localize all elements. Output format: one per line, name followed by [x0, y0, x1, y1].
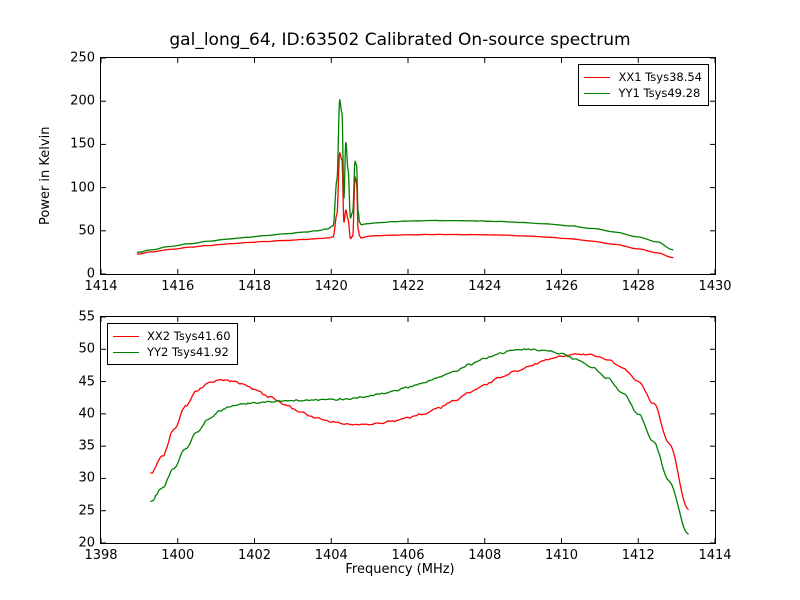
legend-swatch-xx1: [584, 77, 610, 78]
y-tick-label: 250: [59, 51, 95, 66]
x-tick-label: 1410: [545, 548, 578, 563]
x-tick-label: 1418: [238, 279, 271, 294]
legend-swatch-xx2: [113, 336, 139, 337]
y-tick-label: 45: [59, 374, 95, 389]
x-tick-label: 1416: [161, 279, 194, 294]
x-tick-label: 1408: [468, 548, 501, 563]
y-tick-label: 20: [59, 536, 95, 551]
page-title: gal_long_64, ID:63502 Calibrated On-sour…: [0, 30, 800, 50]
y-tick-label: 0: [59, 267, 95, 282]
top-legend: XX1 Tsys38.54 YY1 Tsys49.28: [578, 64, 709, 106]
y-tick-label: 30: [59, 471, 95, 486]
x-tick-label: 1412: [622, 548, 655, 563]
series-line: [151, 354, 688, 510]
y-tick-label: 100: [59, 180, 95, 195]
y-tick-label: 40: [59, 406, 95, 421]
x-tick-label: 1406: [391, 548, 424, 563]
x-tick-label: 1400: [161, 548, 194, 563]
legend-label-xx2: XX2 Tsys41.60: [147, 328, 231, 344]
y-tick-label: 150: [59, 137, 95, 152]
legend-item: YY2 Tsys41.92: [113, 344, 231, 360]
bottom-axes: XX2 Tsys41.60 YY2 Tsys41.92: [100, 316, 716, 544]
legend-label-xx1: XX1 Tsys38.54: [618, 69, 702, 85]
bottom-axis-xlabel: Frequency (MHz): [0, 562, 800, 577]
y-tick-label: 55: [59, 310, 95, 325]
x-tick-label: 1404: [315, 548, 348, 563]
x-tick-label: 1428: [622, 279, 655, 294]
series-line: [137, 100, 672, 252]
y-tick-label: 50: [59, 342, 95, 357]
legend-label-yy1: YY1 Tsys49.28: [618, 85, 700, 101]
y-tick-label: 25: [59, 503, 95, 518]
legend-item: XX2 Tsys41.60: [113, 328, 231, 344]
legend-item: XX1 Tsys38.54: [584, 69, 702, 85]
figure-canvas: gal_long_64, ID:63502 Calibrated On-sour…: [0, 0, 800, 600]
top-axis-ylabel: Power in Kelvin: [38, 127, 53, 225]
x-tick-label: 1414: [698, 548, 731, 563]
x-tick-label: 1426: [545, 279, 578, 294]
y-tick-label: 200: [59, 94, 95, 109]
x-tick-label: 1430: [698, 279, 731, 294]
y-tick-label: 50: [59, 223, 95, 238]
legend-swatch-yy2: [113, 352, 139, 353]
x-tick-label: 1422: [391, 279, 424, 294]
x-tick-label: 1402: [238, 548, 271, 563]
x-tick-label: 1424: [468, 279, 501, 294]
y-tick-label: 35: [59, 439, 95, 454]
top-axes: XX1 Tsys38.54 YY1 Tsys49.28: [100, 57, 716, 275]
bottom-legend: XX2 Tsys41.60 YY2 Tsys41.92: [107, 323, 238, 365]
legend-label-yy2: YY2 Tsys41.92: [147, 344, 229, 360]
series-line: [137, 153, 672, 258]
legend-swatch-yy1: [584, 93, 610, 94]
legend-item: YY1 Tsys49.28: [584, 85, 702, 101]
x-tick-label: 1420: [315, 279, 348, 294]
series-line: [151, 349, 688, 534]
